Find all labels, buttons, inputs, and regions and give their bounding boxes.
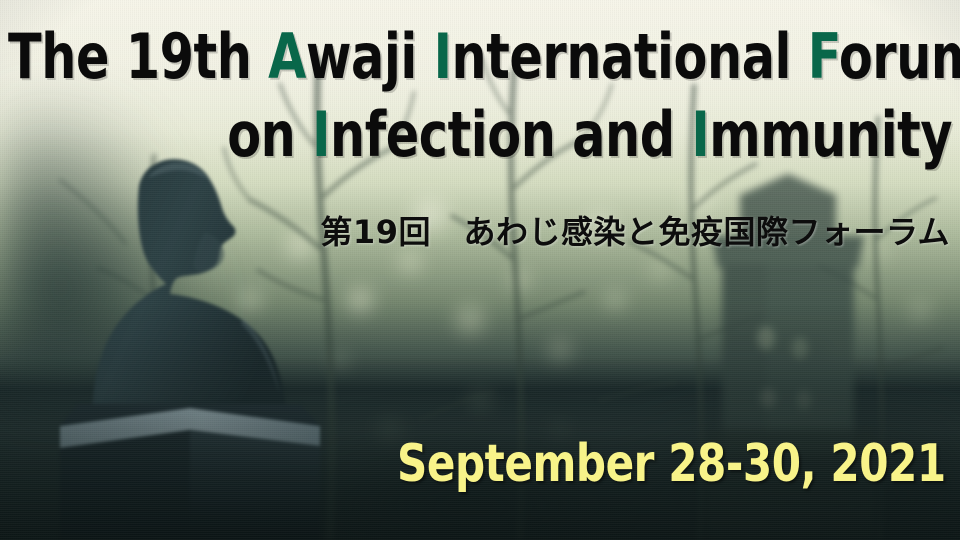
title-1-segment-0: The 19th (8, 20, 268, 93)
title-2-segment-4: mmunity (709, 98, 952, 171)
title-1-segment-1: A (268, 20, 306, 93)
poster-canvas: The 19th Awaji International Forum on In… (0, 0, 960, 540)
title-2-segment-1: I (312, 98, 330, 171)
title-2-segment-0: on (227, 98, 312, 171)
title-1-segment-4: nternational (451, 20, 807, 93)
title-line-2: on Infection and Immunity (227, 104, 952, 166)
event-date: September 28-30, 2021 (397, 434, 946, 494)
title-line-1: The 19th Awaji International Forum (8, 26, 960, 88)
title-1-segment-3: I (434, 20, 452, 93)
title-1-segment-6: orum (839, 20, 960, 93)
title-1-segment-2: waji (306, 20, 434, 93)
title-2-segment-2: nfection and (330, 98, 691, 171)
subtitle-japanese: 第19回 あわじ感染と免疫国際フォーラム (320, 207, 950, 253)
title-1-segment-5: F (808, 20, 839, 93)
title-2-segment-3: I (691, 98, 709, 171)
